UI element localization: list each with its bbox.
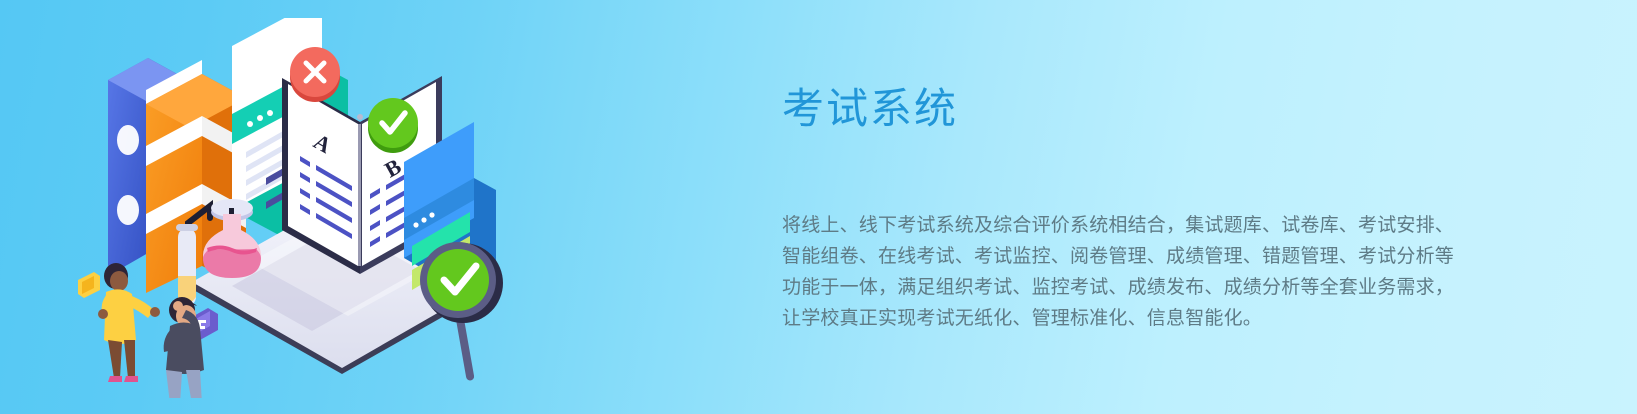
wrong-answer-badge [290, 47, 340, 102]
description-line: 将线上、线下考试系统及综合评价系统相结合，集试题库、试卷库、考试安排、 [782, 210, 1472, 241]
person-male-dark-hoodie [164, 297, 204, 398]
description-line: 功能于一体，满足组织考试、监控考试、成绩发布、成绩分析等全套业务需求， [782, 272, 1472, 303]
page-title: 考试系统 [782, 84, 1482, 134]
description-line: 智能组卷、在线考试、考试监控、阅卷管理、成绩管理、错题管理、考试分析等 [782, 241, 1472, 272]
page-description: 将线上、线下考试系统及综合评价系统相结合，集试题库、试卷库、考试安排、 智能组卷… [782, 134, 1472, 334]
banner-content: 考试系统 将线上、线下考试系统及综合评价系统相结合，集试题库、试卷库、考试安排、… [782, 84, 1482, 334]
exam-system-banner: A B [0, 0, 1637, 414]
description-line: 让学校真正实现考试无纸化、管理标准化、信息智能化。 [782, 303, 1472, 334]
correct-answer-badge [368, 98, 418, 153]
yellow-test-tube [176, 224, 198, 306]
exam-system-illustration: A B [60, 18, 580, 398]
